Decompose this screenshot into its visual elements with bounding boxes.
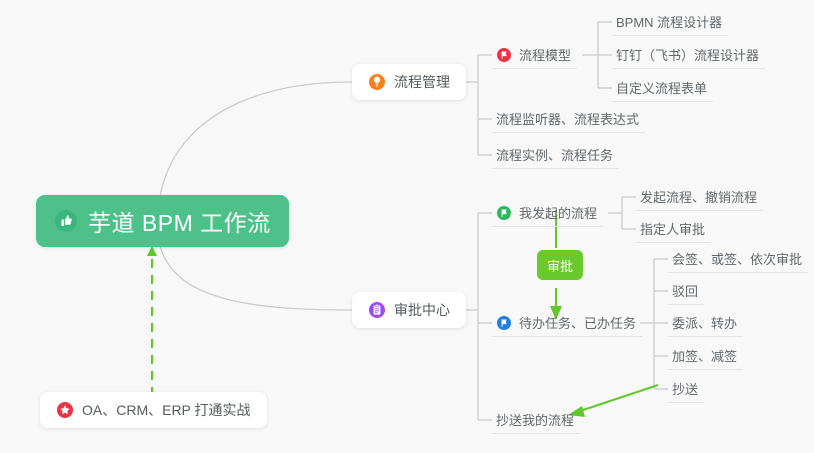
node-countersign-orsign-sequential[interactable]: 会签、或签、依次审批 <box>668 245 808 273</box>
node-label: 会签、或签、依次审批 <box>672 249 802 268</box>
branch-process-management[interactable]: 流程管理 <box>352 64 466 100</box>
branch-label: 审批中心 <box>394 300 450 320</box>
node-label: 加签、减签 <box>672 346 737 365</box>
node-process-listener-expression[interactable]: 流程监听器、流程表达式 <box>492 105 645 133</box>
node-process-instance-task[interactable]: 流程实例、流程任务 <box>492 141 619 169</box>
node-custom-process-form[interactable]: 自定义流程表单 <box>612 74 713 102</box>
node-cc[interactable]: 抄送 <box>668 375 704 403</box>
approval-tag-label: 审批 <box>547 256 573 275</box>
clipboard-icon <box>368 301 386 319</box>
mindmap-canvas: 芋道 BPM 工作流 流程管理 流程模型 BPMN 流程设计器 钉钉（飞书）流程… <box>0 0 814 453</box>
node-start-cancel-process[interactable]: 发起流程、撤销流程 <box>636 183 763 211</box>
node-process-model[interactable]: 流程模型 <box>492 41 577 69</box>
node-label: 流程实例、流程任务 <box>496 145 613 164</box>
node-my-initiated-process[interactable]: 我发起的流程 <box>492 199 603 227</box>
branch-label: 流程管理 <box>394 72 450 92</box>
bottom-card-integration[interactable]: OA、CRM、ERP 打通实战 <box>40 392 267 428</box>
cc-flow-arrow <box>568 385 658 417</box>
flag-icon <box>496 315 512 331</box>
approval-tag[interactable]: 审批 <box>537 250 583 280</box>
node-label: 我发起的流程 <box>519 203 597 222</box>
flag-icon <box>496 47 512 63</box>
node-bpmn-designer[interactable]: BPMN 流程设计器 <box>612 8 728 36</box>
root-node[interactable]: 芋道 BPM 工作流 <box>36 195 289 247</box>
node-label: 待办任务、已办任务 <box>519 313 636 332</box>
star-icon <box>56 401 74 419</box>
node-label: 流程监听器、流程表达式 <box>496 109 639 128</box>
flag-icon <box>496 205 512 221</box>
node-reject[interactable]: 驳回 <box>668 277 704 305</box>
bottom-card-label: OA、CRM、ERP 打通实战 <box>82 400 251 420</box>
node-label: 自定义流程表单 <box>616 78 707 97</box>
node-label: 抄送 <box>672 379 698 398</box>
node-label: 指定人审批 <box>640 219 705 238</box>
node-label: 抄送我的流程 <box>496 410 574 429</box>
node-add-remove-sign[interactable]: 加签、减签 <box>668 342 743 370</box>
branch-approval-center[interactable]: 审批中心 <box>352 292 466 328</box>
dashed-link-bottom-card <box>147 246 157 396</box>
node-label: 发起流程、撤销流程 <box>640 187 757 206</box>
node-todo-done-tasks[interactable]: 待办任务、已办任务 <box>492 309 642 337</box>
node-cc-to-me-process[interactable]: 抄送我的流程 <box>492 406 580 434</box>
node-assignee-approval[interactable]: 指定人审批 <box>636 215 711 243</box>
node-label: 驳回 <box>672 281 698 300</box>
lightbulb-icon <box>368 73 386 91</box>
node-label: 流程模型 <box>519 45 571 64</box>
node-dingtalk-feishu-designer[interactable]: 钉钉（飞书）流程设计器 <box>612 41 765 69</box>
node-label: BPMN 流程设计器 <box>616 12 722 31</box>
root-label: 芋道 BPM 工作流 <box>88 204 271 238</box>
thumbs-up-icon <box>54 209 78 233</box>
node-label: 钉钉（飞书）流程设计器 <box>616 45 759 64</box>
node-label: 委派、转办 <box>672 313 737 332</box>
node-delegate-transfer[interactable]: 委派、转办 <box>668 309 743 337</box>
